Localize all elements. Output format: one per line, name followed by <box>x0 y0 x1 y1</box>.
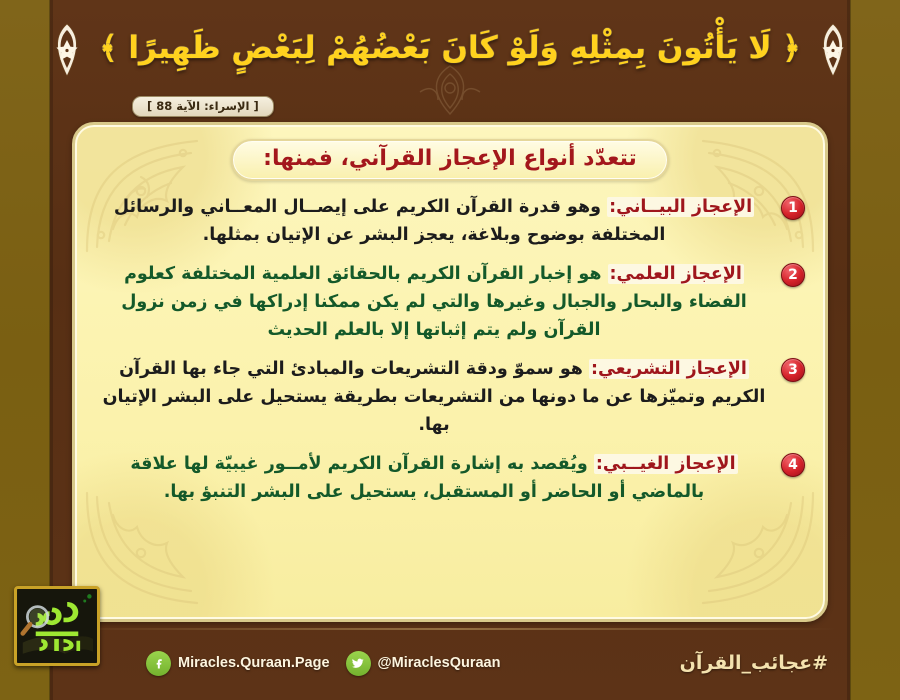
item-text: الإعجاز الغيــبي: ويُقصد به إشارة القرآن… <box>95 450 773 507</box>
twitter-handle: @MiraclesQuraan <box>378 655 501 671</box>
list-item: 3 الإعجاز التشريعي: هو سموّ ودقة التشريع… <box>95 355 807 440</box>
item-text: الإعجاز التشريعي: هو سموّ ودقة التشريعات… <box>95 355 773 440</box>
page-title: تتعدّد أنواع الإعجاز القرآني، فمنها: <box>231 139 669 181</box>
footer-divider <box>64 628 836 630</box>
items-list: 1 الإعجاز البيــاني: وهو قدرة القرآن الك… <box>95 193 807 609</box>
item-heading: الإعجاز الغيــبي: <box>594 454 738 474</box>
list-item: 1 الإعجاز البيــاني: وهو قدرة القرآن الك… <box>95 193 807 250</box>
facebook-link[interactable]: Miracles.Quraan.Page <box>146 651 330 676</box>
list-item: 4 الإعجاز الغيــبي: ويُقصد به إشارة القر… <box>95 450 807 507</box>
item-heading: الإعجاز التشريعي: <box>589 359 749 379</box>
header: ﴿ لَا يَأْتُونَ بِمِثْلِهِ وَلَوْ كَانَ … <box>50 0 850 118</box>
item-heading: الإعجاز البيــاني: <box>607 197 754 217</box>
twitter-link[interactable]: @MiraclesQuraan <box>346 651 501 676</box>
item-text: الإعجاز البيــاني: وهو قدرة القرآن الكري… <box>95 193 773 250</box>
verse-row: ﴿ لَا يَأْتُونَ بِمِثْلِهِ وَلَوْ كَانَ … <box>50 12 850 88</box>
floral-ornament-icon <box>811 22 855 78</box>
verse-reference-badge: [ الإسراء: الآية 88 ] <box>132 96 274 117</box>
social-links: Miracles.Quraan.Page @MiraclesQuraan <box>146 651 500 676</box>
brand-logo[interactable] <box>14 586 100 666</box>
title-row: تتعدّد أنواع الإعجاز القرآني، فمنها: <box>75 139 825 181</box>
item-number-badge: 2 <box>781 263 805 287</box>
floral-ornament-icon <box>45 22 89 78</box>
hashtag[interactable]: #عجائب_القرآن <box>680 652 828 674</box>
item-text: الإعجاز العلمي: هو إخبار القرآن الكريم ب… <box>95 260 773 345</box>
list-item: 2 الإعجاز العلمي: هو إخبار القرآن الكريم… <box>95 260 807 345</box>
facebook-icon <box>146 651 171 676</box>
facebook-handle: Miracles.Quraan.Page <box>178 655 330 671</box>
poster-root: ﴿ لَا يَأْتُونَ بِمِثْلِهِ وَلَوْ كَانَ … <box>0 0 900 700</box>
item-body: وهو قدرة القرآن الكريم على إيصــال المعـ… <box>114 197 665 245</box>
twitter-icon <box>346 651 371 676</box>
quran-verse: ﴿ لَا يَأْتُونَ بِمِثْلِهِ وَلَوْ كَانَ … <box>99 25 800 76</box>
item-number-badge: 1 <box>781 196 805 220</box>
content-card: تتعدّد أنواع الإعجاز القرآني، فمنها: 1 ا… <box>72 122 828 622</box>
item-number-badge: 4 <box>781 453 805 477</box>
item-number-badge: 3 <box>781 358 805 382</box>
footer: #عجائب_القرآن Miracles.Quraan.Page @Mira… <box>50 626 850 700</box>
item-heading: الإعجاز العلمي: <box>608 264 744 284</box>
